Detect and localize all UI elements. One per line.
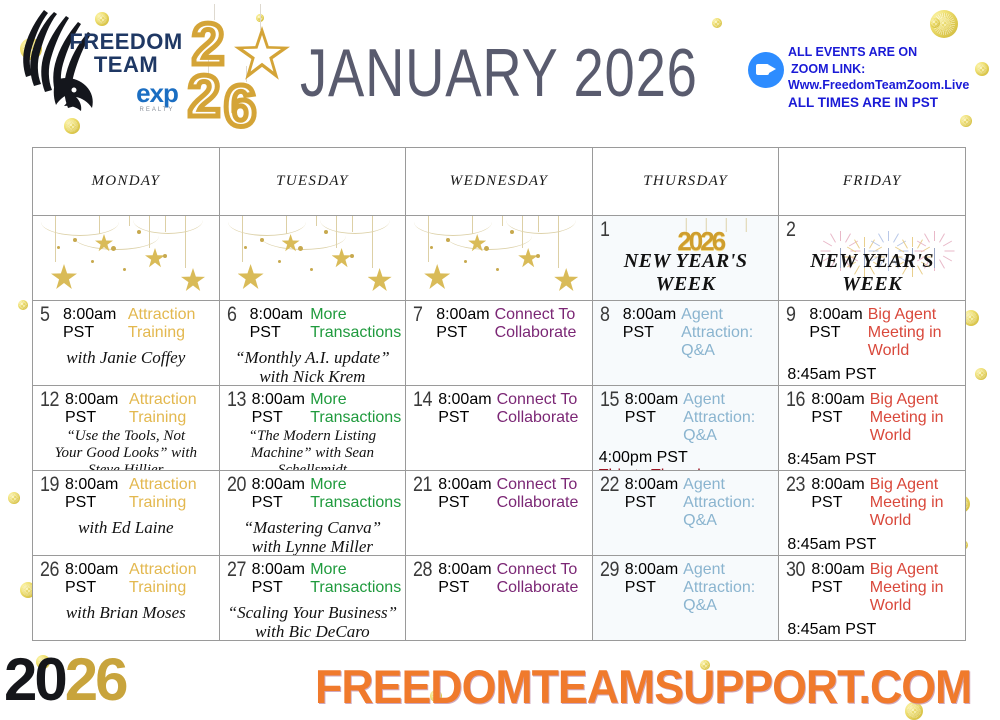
calendar-day-cell-16[interactable]: 168:00am PSTBig Agent Meeting in World8:… xyxy=(778,385,966,471)
calendar-week-row: 198:00am PSTAttraction Trainingwith Ed L… xyxy=(32,470,965,556)
event-title-line: “Monthly A.I. update” xyxy=(225,348,401,367)
garland-bead xyxy=(350,254,354,258)
event-primary-row: 8:00am PSTAttraction Training xyxy=(33,556,219,597)
event-title-line: with Janie Coffey xyxy=(38,348,214,367)
calendar-week-row: 128:00am PSTAttraction Training“Use the … xyxy=(32,385,965,471)
gold-star-icon xyxy=(424,264,450,290)
hanging-string xyxy=(705,218,706,232)
garland-string xyxy=(372,216,373,268)
day-number: 6 xyxy=(227,304,237,325)
event-time: 8:00am PST xyxy=(625,561,678,597)
calendar-day-cell-13[interactable]: 138:00am PSTMore Transactions“The Modern… xyxy=(219,385,407,471)
calendar-day-cell-5[interactable]: 58:00am PSTAttraction Trainingwith Janie… xyxy=(32,300,220,386)
event-title-line: “Use the Tools, Not xyxy=(38,428,214,445)
garland-string xyxy=(149,216,150,248)
garland-string xyxy=(316,216,317,226)
event-time: 8:00am PST xyxy=(809,306,862,342)
event-primary-row: 8:00am PSTAgent Attraction: Q&A xyxy=(593,471,779,530)
event-primary-row: 8:00am PSTMore Transactions xyxy=(220,471,406,512)
event-primary-row: 8:00am PSTBig Agent Meeting in World xyxy=(779,471,965,530)
event-time: 8:00am PST xyxy=(438,391,491,427)
calendar-weeks-container: 20261NEW YEAR'S WEEK2NEW YEAR'S WEEK58:0… xyxy=(32,215,965,641)
garland-string xyxy=(55,216,56,262)
garland-curve xyxy=(320,220,390,234)
weekday-label: THURSDAY xyxy=(643,173,728,190)
confetti-dot xyxy=(18,300,28,310)
event-secondary-row: 8:45am PSTICONversations in World xyxy=(779,445,965,471)
event-time: 8:00am PST xyxy=(438,476,491,512)
day-number: 29 xyxy=(600,559,619,580)
logo-wordmark: FREEDOM TEAM xyxy=(62,30,190,76)
event-title-line: with Ed Laine xyxy=(38,518,214,537)
calendar-day-cell-12[interactable]: 128:00am PSTAttraction Training“Use the … xyxy=(32,385,220,471)
calendar-day-cell-9[interactable]: 98:00am PSTBig Agent Meeting in World8:4… xyxy=(778,300,966,386)
day-number: 15 xyxy=(600,389,619,410)
hanging-string xyxy=(725,218,726,232)
garland-bead xyxy=(244,246,247,249)
garland-string xyxy=(502,216,503,226)
event-time-secondary: 8:45am PST xyxy=(787,366,961,384)
event-primary-row: 8:00am PSTConnect To Collaborate xyxy=(406,556,592,597)
event-title-line: with Bic DeCaro xyxy=(225,622,401,641)
event-category-label[interactable]: Agent Attraction: Q&A xyxy=(683,476,774,530)
event-primary-row: 8:00am PSTBig Agent Meeting in World xyxy=(779,386,965,445)
day-number: 1 xyxy=(600,219,610,240)
day-number: 30 xyxy=(786,559,805,580)
event-time: 8:00am PST xyxy=(252,476,306,512)
event-primary-row: 8:00am PSTConnect To Collaborate xyxy=(406,471,592,512)
event-title-script: “Scaling Your Business”with Bic DeCaro xyxy=(220,603,406,641)
garland-string xyxy=(129,216,130,226)
exp-wordmark: exp xyxy=(118,80,196,106)
event-time: 8:00am PST xyxy=(63,306,123,342)
calendar-week-row: 20261NEW YEAR'S WEEK2NEW YEAR'S WEEK xyxy=(32,215,965,301)
weekday-label: MONDAY xyxy=(91,173,160,190)
garland-curve xyxy=(41,222,119,236)
event-primary-row: 8:00am PSTAgent Attraction: Q&A xyxy=(593,386,779,445)
event-title-line: with Nick Krem xyxy=(225,367,401,386)
garland-bead xyxy=(91,260,94,263)
garland-bead xyxy=(536,254,540,258)
day-number: 26 xyxy=(40,559,59,580)
event-primary-row: 8:00am PSTMore Transactions xyxy=(220,556,406,597)
star-garland-decoration xyxy=(220,216,406,274)
freedom-team-logo: FREEDOM TEAM exp REALTY xyxy=(14,8,189,128)
event-category-label[interactable]: Connect To Collaborate xyxy=(497,476,588,512)
garland-string xyxy=(336,216,337,248)
gold-star-icon xyxy=(368,268,392,292)
event-category-label[interactable]: Attraction Training xyxy=(129,561,215,597)
garland-bead xyxy=(278,260,281,263)
calendar-day-cell-23[interactable]: 238:00am PSTBig Agent Meeting in World8:… xyxy=(778,470,966,556)
event-title-script: “The Modern ListingMachine” with SeanSch… xyxy=(220,428,406,471)
calendar-day-cell-19[interactable]: 198:00am PSTAttraction Trainingwith Ed L… xyxy=(32,470,220,556)
calendar-day-cell-26[interactable]: 268:00am PSTAttraction Trainingwith Bria… xyxy=(32,555,220,641)
event-time: 8:00am PST xyxy=(65,476,124,512)
garland-string xyxy=(538,216,539,232)
event-category-label[interactable]: Big Agent Meeting in World xyxy=(870,391,961,445)
garland-curve xyxy=(228,222,306,236)
calendar-day-cell-7[interactable]: 78:00am PSTConnect To Collaborate xyxy=(405,300,593,386)
garland-bead xyxy=(430,246,433,249)
calendar-day-cell-empty[interactable] xyxy=(219,215,407,301)
page-footer: 2026 FREEDOMTEAMSUPPORT.COM xyxy=(0,650,1000,720)
gold-star-icon xyxy=(51,264,77,290)
gold-star-icon xyxy=(554,268,578,292)
garland-bead xyxy=(111,246,116,251)
event-category-label[interactable]: Agent Attraction: Q&A xyxy=(681,306,774,360)
star-garland-decoration xyxy=(406,216,592,274)
garland-bead xyxy=(260,238,264,242)
garland-string xyxy=(286,216,287,234)
event-category-label[interactable]: Connect To Collaborate xyxy=(495,306,588,342)
garland-bead xyxy=(324,230,328,234)
event-time: 8:00am PST xyxy=(438,561,491,597)
footer-2026-decoration: 2026 xyxy=(4,650,126,710)
event-time: 8:00am PST xyxy=(811,476,864,512)
calendar-day-cell-6[interactable]: 68:00am PSTMore Transactions“Monthly A.I… xyxy=(219,300,407,386)
event-time: 8:00am PST xyxy=(625,391,678,427)
weekday-label: WEDNESDAY xyxy=(450,173,548,190)
logo-line-team: TEAM xyxy=(62,53,190,76)
calendar-day-cell-21[interactable]: 218:00am PSTConnect To Collaborate xyxy=(405,470,593,556)
gold-star-icon xyxy=(332,248,352,268)
page-title: JANUARY 2026 xyxy=(300,34,636,112)
garland-bead xyxy=(73,238,77,242)
event-category-label[interactable]: Connect To Collaborate xyxy=(497,391,588,427)
calendar-day-cell-28[interactable]: 288:00am PSTConnect To Collaborate xyxy=(405,555,593,641)
event-title-line: “The Modern Listing xyxy=(225,428,401,445)
event-primary-row: 8:00am PSTConnect To Collaborate xyxy=(406,386,592,427)
footer-year-part2: 26 xyxy=(65,646,126,713)
event-secondary-row: 8:45am PSTICONversations in World xyxy=(779,530,965,556)
event-title-script: “Use the Tools, NotYour Good Looks” with… xyxy=(33,428,219,471)
footer-website-url[interactable]: FREEDOMTEAMSUPPORT.COM xyxy=(315,659,885,714)
weekday-header-monday: MONDAY xyxy=(32,147,220,216)
calendar-day-cell-27[interactable]: 278:00am PSTMore Transactions“Scaling Yo… xyxy=(219,555,407,641)
event-primary-row: 8:00am PSTAttraction Training xyxy=(33,386,219,427)
event-category-label[interactable]: More Transactions xyxy=(310,476,401,512)
garland-curve xyxy=(73,236,159,250)
calendar-day-cell-2[interactable]: 2NEW YEAR'S WEEK xyxy=(778,215,966,301)
event-time-secondary: 8:45am PST xyxy=(787,536,961,554)
garland-bead xyxy=(464,260,467,263)
event-category-label[interactable]: More Transactions xyxy=(310,561,401,597)
garland-bead xyxy=(496,268,499,271)
event-title-line: Your Good Looks” with xyxy=(38,445,214,462)
day-number: 28 xyxy=(413,559,432,580)
calendar-day-cell-29[interactable]: 298:00am PSTAgent Attraction: Q&A xyxy=(592,555,780,641)
day-number: 23 xyxy=(786,474,805,495)
video-camera-icon[interactable] xyxy=(748,52,784,88)
event-title-line: Machine” with Sean xyxy=(225,445,401,462)
day-number: 7 xyxy=(413,304,423,325)
zoom-line-4: ALL TIMES ARE IN PST xyxy=(788,94,996,112)
garland-curve xyxy=(446,236,532,250)
zoom-line-2: ZOOM LINK: xyxy=(788,61,996,78)
calendar-day-cell-20[interactable]: 208:00am PSTMore Transactions“Mastering … xyxy=(219,470,407,556)
gold-star-icon xyxy=(145,248,165,268)
event-title-script: with Janie Coffey xyxy=(33,348,219,367)
day-number: 21 xyxy=(413,474,432,495)
garland-bead xyxy=(123,268,126,271)
garland-curve xyxy=(414,222,492,236)
event-title-script: with Ed Laine xyxy=(33,518,219,537)
garland-bead xyxy=(57,246,60,249)
garland-bead xyxy=(510,230,514,234)
day-number: 8 xyxy=(600,304,610,325)
day-number: 13 xyxy=(227,389,246,410)
event-primary-row: 8:00am PSTAgent Attraction: Q&A xyxy=(593,301,779,360)
day-number: 20 xyxy=(227,474,246,495)
event-time: 8:00am PST xyxy=(436,306,489,342)
page-header: FREEDOM TEAM exp REALTY 2 2 6 JANUARY 20… xyxy=(0,0,1000,145)
gold-star-icon xyxy=(518,248,538,268)
calendar-day-cell-14[interactable]: 148:00am PSTConnect To Collaborate xyxy=(405,385,593,471)
star-garland-decoration xyxy=(33,216,219,274)
calendar-day-cell-1[interactable]: 20261NEW YEAR'S WEEK xyxy=(592,215,780,301)
garland-string xyxy=(522,216,523,248)
day-number: 19 xyxy=(40,474,59,495)
calendar-day-cell-8[interactable]: 88:00am PSTAgent Attraction: Q&A xyxy=(592,300,780,386)
weekday-header-wednesday: WEDNESDAY xyxy=(405,147,593,216)
garland-bead xyxy=(298,246,303,251)
event-title-line: “Mastering Canva” xyxy=(225,518,401,537)
garland-bead xyxy=(484,246,489,251)
garland-curve xyxy=(506,220,576,234)
calendar-day-cell-empty[interactable] xyxy=(32,215,220,301)
event-time: 8:00am PST xyxy=(252,561,306,597)
event-time-secondary: 8:45am PST xyxy=(787,621,961,639)
garland-bead xyxy=(163,254,167,258)
garland-string xyxy=(165,216,166,232)
event-primary-row: 8:00am PSTAttraction Training xyxy=(33,301,219,342)
day-number: 5 xyxy=(40,304,50,325)
event-title-script: “Mastering Canva”with Lynne Miller xyxy=(220,518,406,556)
calendar-day-cell-30[interactable]: 308:00am PSTBig Agent Meeting in World8:… xyxy=(778,555,966,641)
gold-2026-ornament-decoration: 2 2 6 xyxy=(188,4,306,136)
weekday-header-thursday: THURSDAY xyxy=(592,147,780,216)
confetti-dot xyxy=(975,368,987,380)
day-number: 12 xyxy=(40,389,59,410)
gold-star-icon xyxy=(238,264,264,290)
garland-string xyxy=(185,216,186,268)
gold-star-icon xyxy=(282,234,300,252)
event-category-label[interactable]: More Transactions xyxy=(310,391,401,427)
calendar-day-cell-15[interactable]: 158:00am PSTAgent Attraction: Q&A4:00pm … xyxy=(592,385,780,471)
garland-string xyxy=(352,216,353,232)
exp-realty-logo: exp REALTY xyxy=(118,80,196,113)
garland-curve xyxy=(260,236,346,250)
garland-curve xyxy=(133,220,203,234)
event-secondary-row: 8:45am PSTICONversations in World xyxy=(779,360,965,386)
weekday-label: TUESDAY xyxy=(276,173,348,190)
day-number: 2 xyxy=(786,219,796,240)
event-time: 8:00am PST xyxy=(625,476,678,512)
event-title-line: with Brian Moses xyxy=(38,603,214,622)
gold-star-icon xyxy=(181,268,205,292)
event-primary-row: 8:00am PSTAgent Attraction: Q&A xyxy=(593,556,779,615)
day-number: 22 xyxy=(600,474,619,495)
garland-bead xyxy=(137,230,141,234)
ornament-digit-6: 6 xyxy=(224,78,256,136)
event-time: 8:00am PST xyxy=(811,561,864,597)
event-category-label[interactable]: Attraction Training xyxy=(129,476,215,512)
garland-string xyxy=(472,216,473,234)
event-category-label[interactable]: Agent Attraction: Q&A xyxy=(683,561,774,615)
event-category-label[interactable]: Agent Attraction: Q&A xyxy=(683,391,774,445)
event-primary-row: 8:00am PSTMore Transactions xyxy=(220,386,406,427)
day-number: 9 xyxy=(786,304,796,325)
zoom-line-1: ALL EVENTS ARE ON xyxy=(788,44,996,61)
calendar-day-cell-empty[interactable] xyxy=(405,215,593,301)
new-years-week-label: NEW YEAR'S WEEK xyxy=(593,250,779,296)
event-time-secondary: 8:45am PST xyxy=(787,451,961,469)
garland-string xyxy=(242,216,243,262)
calendar-week-row: 268:00am PSTAttraction Trainingwith Bria… xyxy=(32,555,965,641)
weekday-header-friday: FRIDAY xyxy=(778,147,966,216)
ornament-digit-2b: 2 xyxy=(188,68,220,126)
calendar-grid: MONDAYTUESDAYWEDNESDAYTHURSDAYFRIDAY 202… xyxy=(32,147,965,653)
event-primary-row: 8:00am PSTBig Agent Meeting in World xyxy=(779,556,965,615)
event-category-label[interactable]: Big Agent Meeting in World xyxy=(868,306,961,360)
day-number: 27 xyxy=(227,559,246,580)
event-time: 8:00am PST xyxy=(252,391,306,427)
day-number: 14 xyxy=(413,389,432,410)
event-title-script: with Brian Moses xyxy=(33,603,219,622)
event-primary-row: 8:00am PSTConnect To Collaborate xyxy=(406,301,592,342)
event-primary-row: 8:00am PSTBig Agent Meeting in World xyxy=(779,301,965,360)
event-secondary-row: 4:00pm PSTThirsty Thursday xyxy=(593,445,779,471)
calendar-day-cell-22[interactable]: 228:00am PSTAgent Attraction: Q&A xyxy=(592,470,780,556)
event-time: 8:00am PST xyxy=(250,306,306,342)
event-primary-row: 8:00am PSTAttraction Training xyxy=(33,471,219,512)
garland-string xyxy=(428,216,429,262)
event-category-label[interactable]: Attraction Training xyxy=(129,391,215,427)
hanging-string xyxy=(745,218,746,232)
calendar-weekday-header-row: MONDAYTUESDAYWEDNESDAYTHURSDAYFRIDAY xyxy=(32,147,965,216)
gold-star-icon xyxy=(95,234,113,252)
day-number: 16 xyxy=(786,389,805,410)
calendar-week-row: 58:00am PSTAttraction Trainingwith Janie… xyxy=(32,300,965,386)
garland-bead xyxy=(446,238,450,242)
zoom-link-url[interactable]: Www.FreedomTeamZoom.Live xyxy=(788,77,996,94)
weekday-label: FRIDAY xyxy=(843,173,902,190)
confetti-dot xyxy=(8,492,20,504)
event-category-label[interactable]: More Transactions xyxy=(310,306,401,342)
event-time: 8:00am PST xyxy=(65,561,124,597)
gold-star-icon xyxy=(468,234,486,252)
event-title-line: “Scaling Your Business” xyxy=(225,603,401,622)
event-category-label[interactable]: Connect To Collaborate xyxy=(497,561,588,597)
hanging-string xyxy=(685,218,686,232)
event-category-label[interactable]: Big Agent Meeting in World xyxy=(870,476,961,530)
event-title-line: with Lynne Miller xyxy=(225,537,401,556)
event-time: 8:00am PST xyxy=(65,391,124,427)
zoom-info-lines: ALL EVENTS ARE ON ZOOM LINK: Www.Freedom… xyxy=(788,44,996,112)
event-category-label[interactable]: Big Agent Meeting in World xyxy=(870,561,961,615)
weekday-header-tuesday: TUESDAY xyxy=(219,147,407,216)
garland-bead xyxy=(310,268,313,271)
event-time: 8:00am PST xyxy=(623,306,676,342)
logo-line-freedom: FREEDOM xyxy=(62,30,190,53)
garland-string xyxy=(99,216,100,234)
garland-string xyxy=(558,216,559,268)
event-secondary-row: 8:45am PSTICONversations in World xyxy=(779,615,965,641)
event-category-label[interactable]: Attraction Training xyxy=(128,306,215,342)
event-title-script: “Monthly A.I. update”with Nick Krem xyxy=(220,348,406,386)
footer-year-part1: 20 xyxy=(4,646,65,713)
event-time: 8:00am PST xyxy=(811,391,864,427)
new-years-week-label: NEW YEAR'S WEEK xyxy=(779,250,965,296)
exp-realty-subtitle: REALTY xyxy=(118,107,196,113)
event-primary-row: 8:00am PSTMore Transactions xyxy=(220,301,406,342)
event-time-secondary: 4:00pm PST xyxy=(599,449,775,467)
